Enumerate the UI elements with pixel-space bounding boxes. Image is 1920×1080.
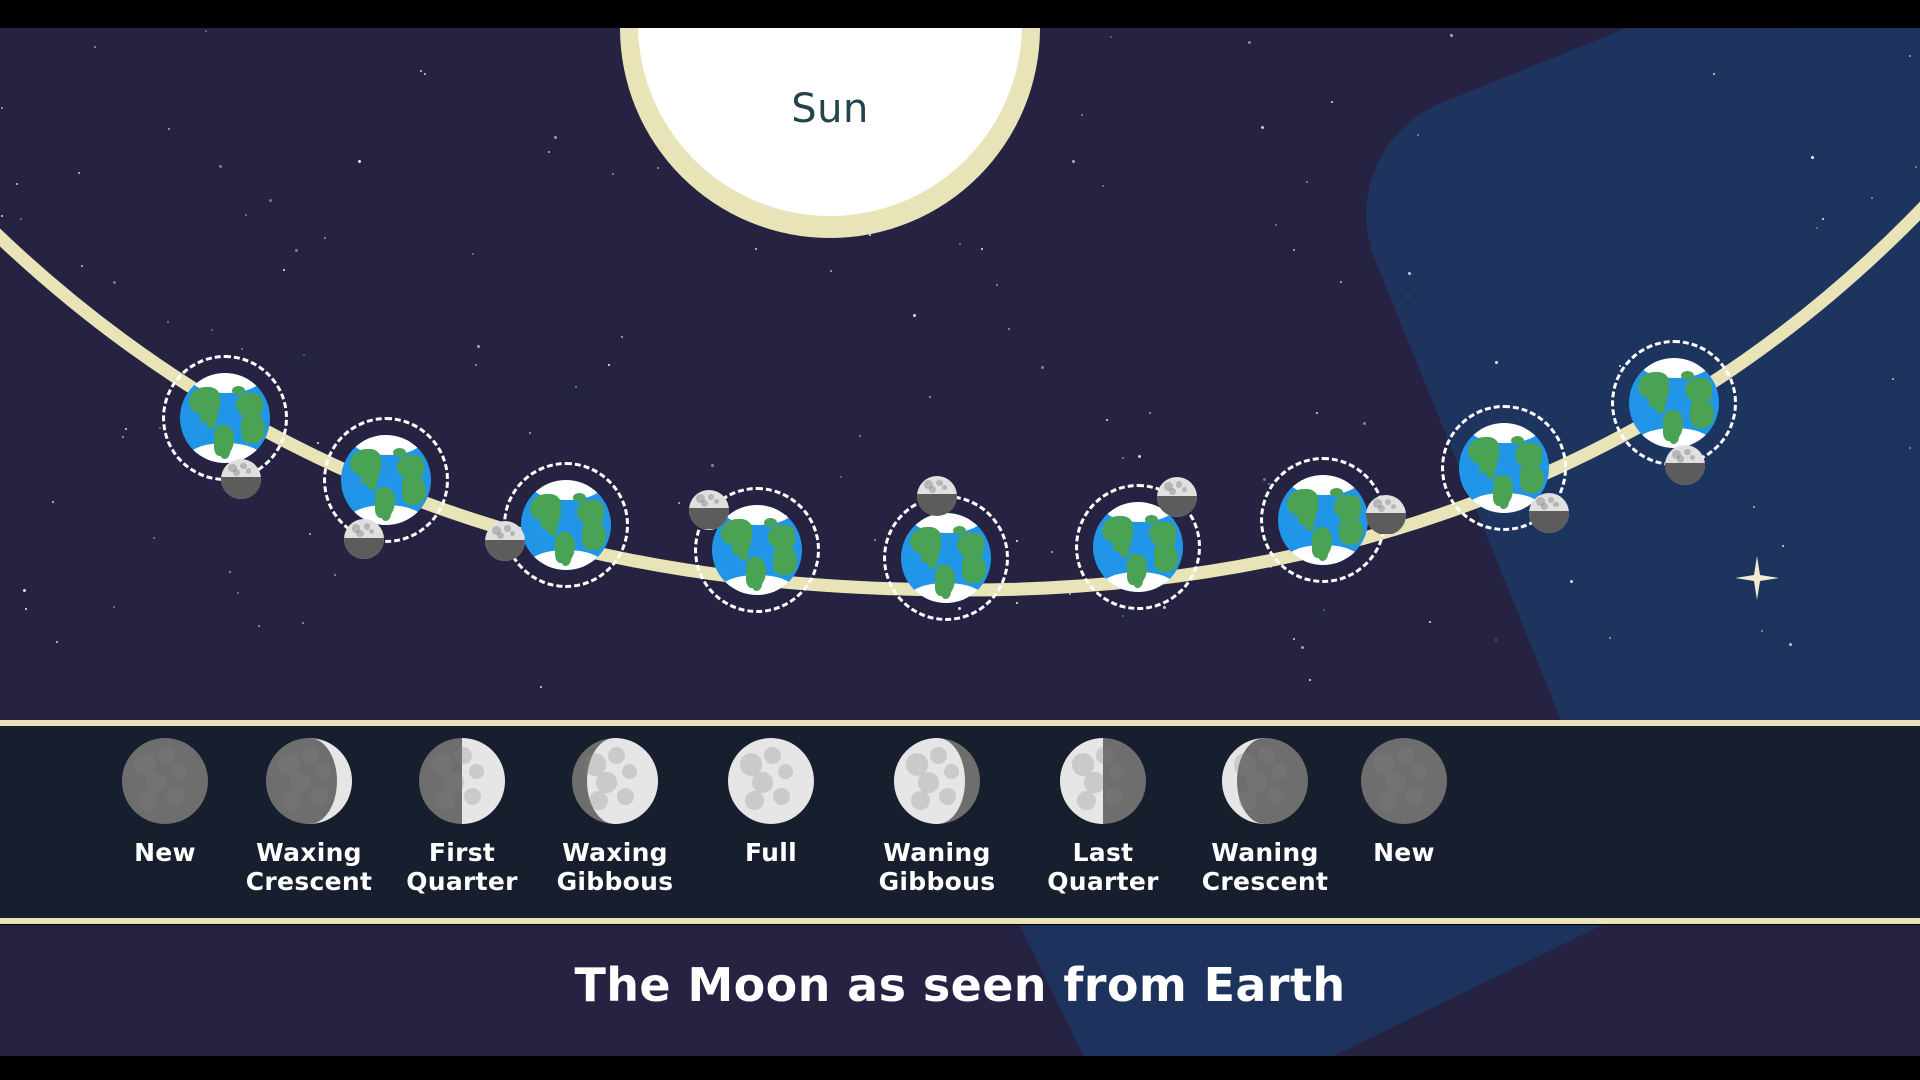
- moon-surface-mark: [752, 772, 773, 793]
- star: [167, 321, 169, 323]
- star: [929, 396, 931, 398]
- star: [1316, 412, 1318, 414]
- star: [1106, 419, 1108, 421]
- star: [1822, 218, 1824, 220]
- moon-phase-legend: NewWaxing CrescentFirst QuarterWaxing Gi…: [0, 726, 1920, 918]
- star: [529, 432, 531, 434]
- moon-shadow-half: [1529, 511, 1569, 533]
- moon-shadow-half: [689, 508, 729, 530]
- star: [358, 160, 361, 163]
- moon: [1529, 493, 1569, 533]
- moon-crater: [1677, 455, 1684, 462]
- moon-crater: [1391, 504, 1396, 509]
- moon-surface-mark: [1246, 772, 1267, 793]
- earth: [521, 480, 611, 570]
- star: [424, 73, 426, 75]
- star: [608, 364, 610, 366]
- moon-surface-mark: [1411, 764, 1426, 779]
- earth-landmass: [582, 520, 605, 551]
- diagram-stage: Sun NewWaxing CrescentFirst QuarterWaxin…: [0, 0, 1920, 1080]
- star: [113, 606, 115, 608]
- moon-surface-mark: [1267, 788, 1284, 805]
- moon-surface-mark: [596, 772, 617, 793]
- moon-crater: [1169, 488, 1176, 495]
- moon: [221, 459, 261, 499]
- star: [295, 249, 298, 252]
- moon: [689, 490, 729, 530]
- moon-surface-mark: [172, 764, 187, 779]
- sky-panel: Sun: [0, 28, 1920, 720]
- star: [153, 537, 155, 539]
- star: [1340, 281, 1342, 283]
- moon-crater: [714, 499, 719, 504]
- sparkle-star-icon: [1735, 556, 1779, 600]
- moon-surface-mark: [464, 788, 481, 805]
- moon: [485, 521, 525, 561]
- star: [420, 70, 422, 72]
- star: [540, 686, 542, 688]
- star: [52, 501, 54, 503]
- moon-crater: [233, 469, 240, 476]
- earth-landmass: [1656, 403, 1665, 414]
- moon-crater: [1690, 455, 1695, 460]
- earth-landmass: [548, 525, 557, 536]
- moon-shadow-half: [221, 477, 261, 499]
- star: [1408, 272, 1411, 275]
- star: [303, 354, 305, 356]
- moon-surface-mark: [778, 764, 793, 779]
- phase-legend-item[interactable]: Full: [676, 738, 866, 867]
- star: [258, 625, 260, 627]
- star: [1495, 639, 1497, 641]
- earth-landmass: [241, 413, 264, 444]
- star: [283, 269, 285, 271]
- star: [229, 571, 231, 573]
- divider-line-top: [0, 720, 1920, 726]
- earth-moon-system: [317, 411, 455, 549]
- divider-line-bottom: [0, 918, 1920, 924]
- moon-surface-mark: [745, 791, 764, 810]
- moon-crater: [1541, 503, 1548, 510]
- moon-surface-mark: [167, 788, 184, 805]
- star: [1293, 638, 1295, 640]
- moon-surface-mark: [1385, 772, 1406, 793]
- earth-landmass: [1511, 436, 1524, 445]
- star: [981, 248, 983, 250]
- earth-landmass: [1120, 547, 1129, 558]
- star: [1761, 630, 1763, 632]
- earth-landmass: [953, 526, 966, 535]
- moon-surface-mark: [617, 788, 634, 805]
- earth-landmass: [1690, 398, 1713, 429]
- moon-crater: [708, 494, 714, 500]
- moon-phase-icon: [122, 738, 208, 824]
- moon-shadow-half: [485, 540, 525, 562]
- earth-moon-system: [1605, 334, 1743, 472]
- moon-crater: [497, 532, 504, 539]
- earth-moon-system: [156, 349, 294, 487]
- earth: [1278, 475, 1368, 565]
- star: [1909, 447, 1911, 449]
- star: [219, 165, 222, 168]
- star: [211, 329, 213, 331]
- moon-surface-mark: [608, 747, 625, 764]
- star: [1261, 126, 1264, 129]
- star: [575, 386, 577, 388]
- earth-landmass: [764, 518, 777, 527]
- star: [324, 237, 326, 239]
- page-title: The Moon as seen from Earth: [0, 958, 1920, 1012]
- moon-crater: [929, 486, 936, 493]
- star: [913, 314, 916, 317]
- star: [711, 464, 714, 467]
- star: [1570, 580, 1573, 583]
- earth-landmass: [962, 553, 985, 584]
- caption-panel: The Moon as seen from Earth: [0, 925, 1920, 1056]
- star: [1782, 545, 1784, 547]
- star: [1248, 41, 1251, 44]
- moon-surface-mark: [764, 747, 781, 764]
- star: [1495, 361, 1498, 364]
- moon-surface-mark: [1378, 791, 1397, 810]
- star: [830, 270, 832, 272]
- star: [1081, 114, 1083, 116]
- star: [621, 336, 623, 338]
- moon-phase-icon: [1060, 738, 1146, 824]
- star: [1149, 412, 1151, 414]
- moon-phase-icon: [266, 738, 352, 824]
- star: [1275, 224, 1277, 226]
- moon: [344, 519, 384, 559]
- star: [1016, 540, 1018, 542]
- earth-landmass: [402, 475, 425, 506]
- moon-phase-icon: [728, 738, 814, 824]
- moon: [1157, 477, 1197, 517]
- star: [302, 622, 304, 624]
- star: [1293, 249, 1295, 251]
- star: [1811, 156, 1814, 159]
- moon-surface-mark: [443, 772, 464, 793]
- star: [56, 641, 58, 643]
- phase-label: New: [1309, 838, 1499, 867]
- moon-crater: [701, 500, 708, 507]
- star: [16, 183, 18, 185]
- star: [612, 173, 614, 175]
- earth-landmass: [1330, 488, 1343, 497]
- moon-crater: [356, 530, 363, 537]
- star: [168, 128, 170, 130]
- earth-moon-system: [1435, 399, 1573, 537]
- star: [1110, 36, 1112, 38]
- star: [1450, 34, 1453, 37]
- star: [1407, 295, 1409, 297]
- star: [840, 476, 842, 478]
- moon-crater: [1684, 449, 1690, 455]
- star: [81, 265, 83, 267]
- earth-landmass: [207, 418, 216, 429]
- earth-landmass: [232, 386, 245, 395]
- earth-moon-system: [1254, 451, 1392, 589]
- star: [237, 592, 239, 594]
- moon-surface-mark: [146, 772, 167, 793]
- star: [122, 436, 124, 438]
- star: [874, 539, 876, 541]
- phase-legend-item[interactable]: New: [1309, 738, 1499, 867]
- moon-crater: [1385, 499, 1391, 505]
- star: [334, 574, 336, 576]
- moon-surface-mark: [290, 772, 311, 793]
- phase-legend-item[interactable]: Waning Gibbous: [842, 738, 1032, 896]
- earth-moon-system: [688, 481, 826, 619]
- star: [1122, 457, 1124, 459]
- moon-phase-icon: [572, 738, 658, 824]
- moon-crater: [246, 468, 251, 473]
- star: [1309, 679, 1311, 681]
- star: [1051, 551, 1053, 553]
- moon: [1366, 495, 1406, 535]
- star: [1909, 55, 1911, 57]
- phase-label: Full: [676, 838, 866, 867]
- star: [1, 107, 3, 109]
- moon-crater: [1553, 502, 1558, 507]
- star: [1, 215, 3, 217]
- earth-landmass: [1305, 520, 1314, 531]
- moon-shadow-half: [344, 538, 384, 560]
- moon-shadow-half: [1366, 513, 1406, 535]
- earth-landmass: [773, 545, 796, 576]
- earth-landmass: [1520, 463, 1543, 494]
- star: [1753, 506, 1755, 508]
- star: [269, 199, 272, 202]
- star: [996, 284, 998, 286]
- star: [477, 345, 480, 348]
- earth-landmass: [1681, 371, 1694, 380]
- star: [1363, 422, 1366, 425]
- star: [1429, 621, 1431, 623]
- star: [23, 589, 26, 592]
- star: [20, 218, 22, 220]
- star: [1138, 455, 1141, 458]
- moon: [1665, 445, 1705, 485]
- moon-surface-mark: [436, 791, 455, 810]
- moon-crater: [1182, 487, 1187, 492]
- moon-crater: [942, 485, 947, 490]
- star: [1892, 378, 1894, 380]
- star: [1008, 328, 1010, 330]
- star: [78, 172, 80, 174]
- star: [859, 435, 861, 437]
- earth: [341, 435, 431, 525]
- moon-surface-mark: [918, 772, 939, 793]
- moon-phase-icon: [1222, 738, 1308, 824]
- star: [25, 608, 27, 610]
- earth-landmass: [573, 493, 586, 502]
- star: [475, 364, 477, 366]
- moon-surface-mark: [158, 747, 175, 764]
- moon-crater: [1378, 505, 1385, 512]
- moon-surface-mark: [1397, 747, 1414, 764]
- sun: Sun: [620, 28, 1040, 238]
- star: [472, 253, 474, 255]
- moon-crater: [1176, 481, 1182, 487]
- earth: [901, 513, 991, 603]
- letterbox-top: [0, 0, 1920, 28]
- star: [1323, 609, 1325, 611]
- moon-surface-mark: [1084, 772, 1105, 793]
- star: [1072, 160, 1075, 163]
- star: [1306, 181, 1308, 183]
- star: [548, 151, 550, 153]
- star: [1016, 602, 1018, 604]
- moon-crater: [510, 531, 515, 536]
- moon-crater: [369, 529, 374, 534]
- earth-landmass: [1154, 542, 1177, 573]
- moon: [917, 476, 957, 516]
- earth: [180, 373, 270, 463]
- earth-landmass: [739, 550, 748, 561]
- earth-moon-system: [877, 489, 1015, 627]
- star: [1301, 646, 1304, 649]
- moon-phase-icon: [894, 738, 980, 824]
- moon-surface-mark: [1096, 747, 1113, 764]
- star: [94, 46, 96, 48]
- star: [1041, 366, 1044, 369]
- moon-surface-mark: [1110, 764, 1125, 779]
- star: [678, 502, 680, 504]
- star: [125, 428, 127, 430]
- moon-surface-mark: [455, 747, 472, 764]
- earth-moon-system: [1069, 478, 1207, 616]
- star: [755, 248, 757, 250]
- phase-label: Waning Gibbous: [842, 838, 1032, 896]
- moon-surface-mark: [139, 791, 158, 810]
- moon-surface-mark: [939, 788, 956, 805]
- moon-surface-mark: [302, 747, 319, 764]
- earth-landmass: [368, 480, 377, 491]
- star: [1331, 101, 1333, 103]
- moon-surface-mark: [1406, 788, 1423, 805]
- moon-surface-mark: [1258, 747, 1275, 764]
- star: [113, 281, 116, 284]
- letterbox-bottom: [0, 1056, 1920, 1080]
- sun-label: Sun: [620, 86, 1040, 132]
- moon-shadow-half: [917, 494, 957, 516]
- moon-surface-mark: [1105, 788, 1122, 805]
- earth-landmass: [1486, 468, 1495, 479]
- star: [309, 533, 311, 535]
- star: [1609, 637, 1611, 639]
- star: [245, 214, 247, 216]
- earth: [1629, 358, 1719, 448]
- earth-landmass: [1339, 515, 1362, 546]
- moon-phase-icon: [1361, 738, 1447, 824]
- moon-phase-icon: [419, 738, 505, 824]
- moon-shadow-half: [1665, 463, 1705, 485]
- moon-shadow-half: [1157, 496, 1197, 518]
- star: [205, 30, 207, 32]
- star: [1102, 185, 1104, 187]
- star: [959, 243, 961, 245]
- moon-surface-mark: [773, 788, 790, 805]
- earth-landmass: [393, 448, 406, 457]
- moon-surface-mark: [311, 788, 328, 805]
- earth-landmass: [928, 558, 937, 569]
- star: [554, 136, 557, 139]
- moon-surface-mark: [930, 747, 947, 764]
- earth-moon-system: [497, 456, 635, 594]
